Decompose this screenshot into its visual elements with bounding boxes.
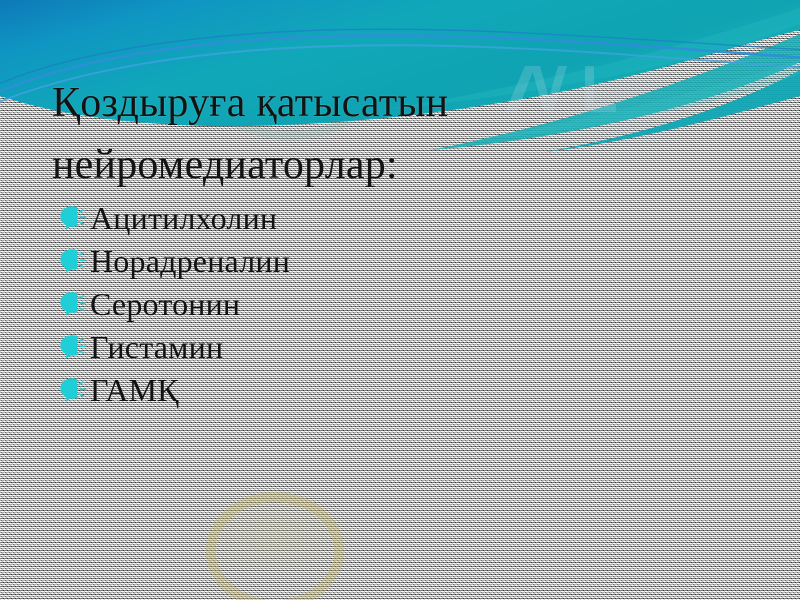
bullet-label: Серотонин [90,287,240,321]
list-item[interactable]: Норадреналин [58,239,758,282]
bullet-label: Гистамин [90,330,223,364]
list-item[interactable]: Ацитилхолин [58,196,758,239]
slide-title: Қоздыруға қатысатын нейромедиаторлар: [52,72,742,196]
speaking-head-bullet-icon [58,248,88,274]
bullet-label: Норадреналин [90,244,290,278]
speaking-head-bullet-icon [58,334,88,360]
bullet-list: Ацитилхолин Норадреналин [58,196,758,411]
list-item[interactable]: Гистамин [58,325,758,368]
list-item[interactable]: ГАМҚ [58,368,758,411]
speaking-head-bullet-icon [58,205,88,231]
list-item[interactable]: Серотонин [58,282,758,325]
presentation-slide: Қоздыруға қатысатын нейромедиаторлар: Ац… [0,0,800,600]
bullet-label: ГАМҚ [90,373,179,407]
bullet-label: Ацитилхолин [90,201,277,235]
speaking-head-bullet-icon [58,291,88,317]
speaking-head-bullet-icon [58,377,88,403]
